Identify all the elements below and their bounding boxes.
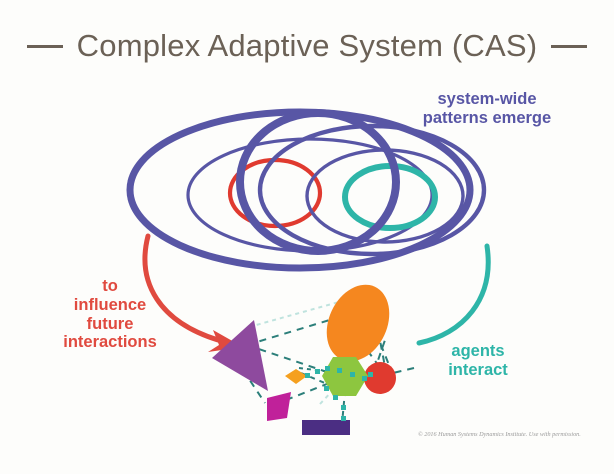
label-agents-interact: agents interact <box>414 342 542 380</box>
footer-credit: © 2016 Human Systems Dynamics Institute.… <box>418 431 608 438</box>
label-to-influence-future-interactions: to influence future interactions <box>36 277 184 352</box>
red-circle <box>364 362 396 394</box>
agents-arc <box>419 246 488 343</box>
orange-diamond <box>285 369 307 384</box>
outer-purple-ellipse <box>130 112 470 268</box>
orange-ellipse <box>315 274 401 371</box>
teal-ellipse <box>345 166 435 228</box>
label-system-wide-patterns-emerge: system-wide patterns emerge <box>392 90 582 128</box>
cas-diagram <box>0 0 614 474</box>
slide-canvas: Complex Adaptive System (CAS) <box>0 0 614 474</box>
agent-shapes <box>212 274 401 435</box>
dark-purple-rect <box>302 420 350 435</box>
magenta-quad <box>267 392 291 421</box>
purple-triangle <box>212 320 268 391</box>
ring-group <box>130 112 484 268</box>
